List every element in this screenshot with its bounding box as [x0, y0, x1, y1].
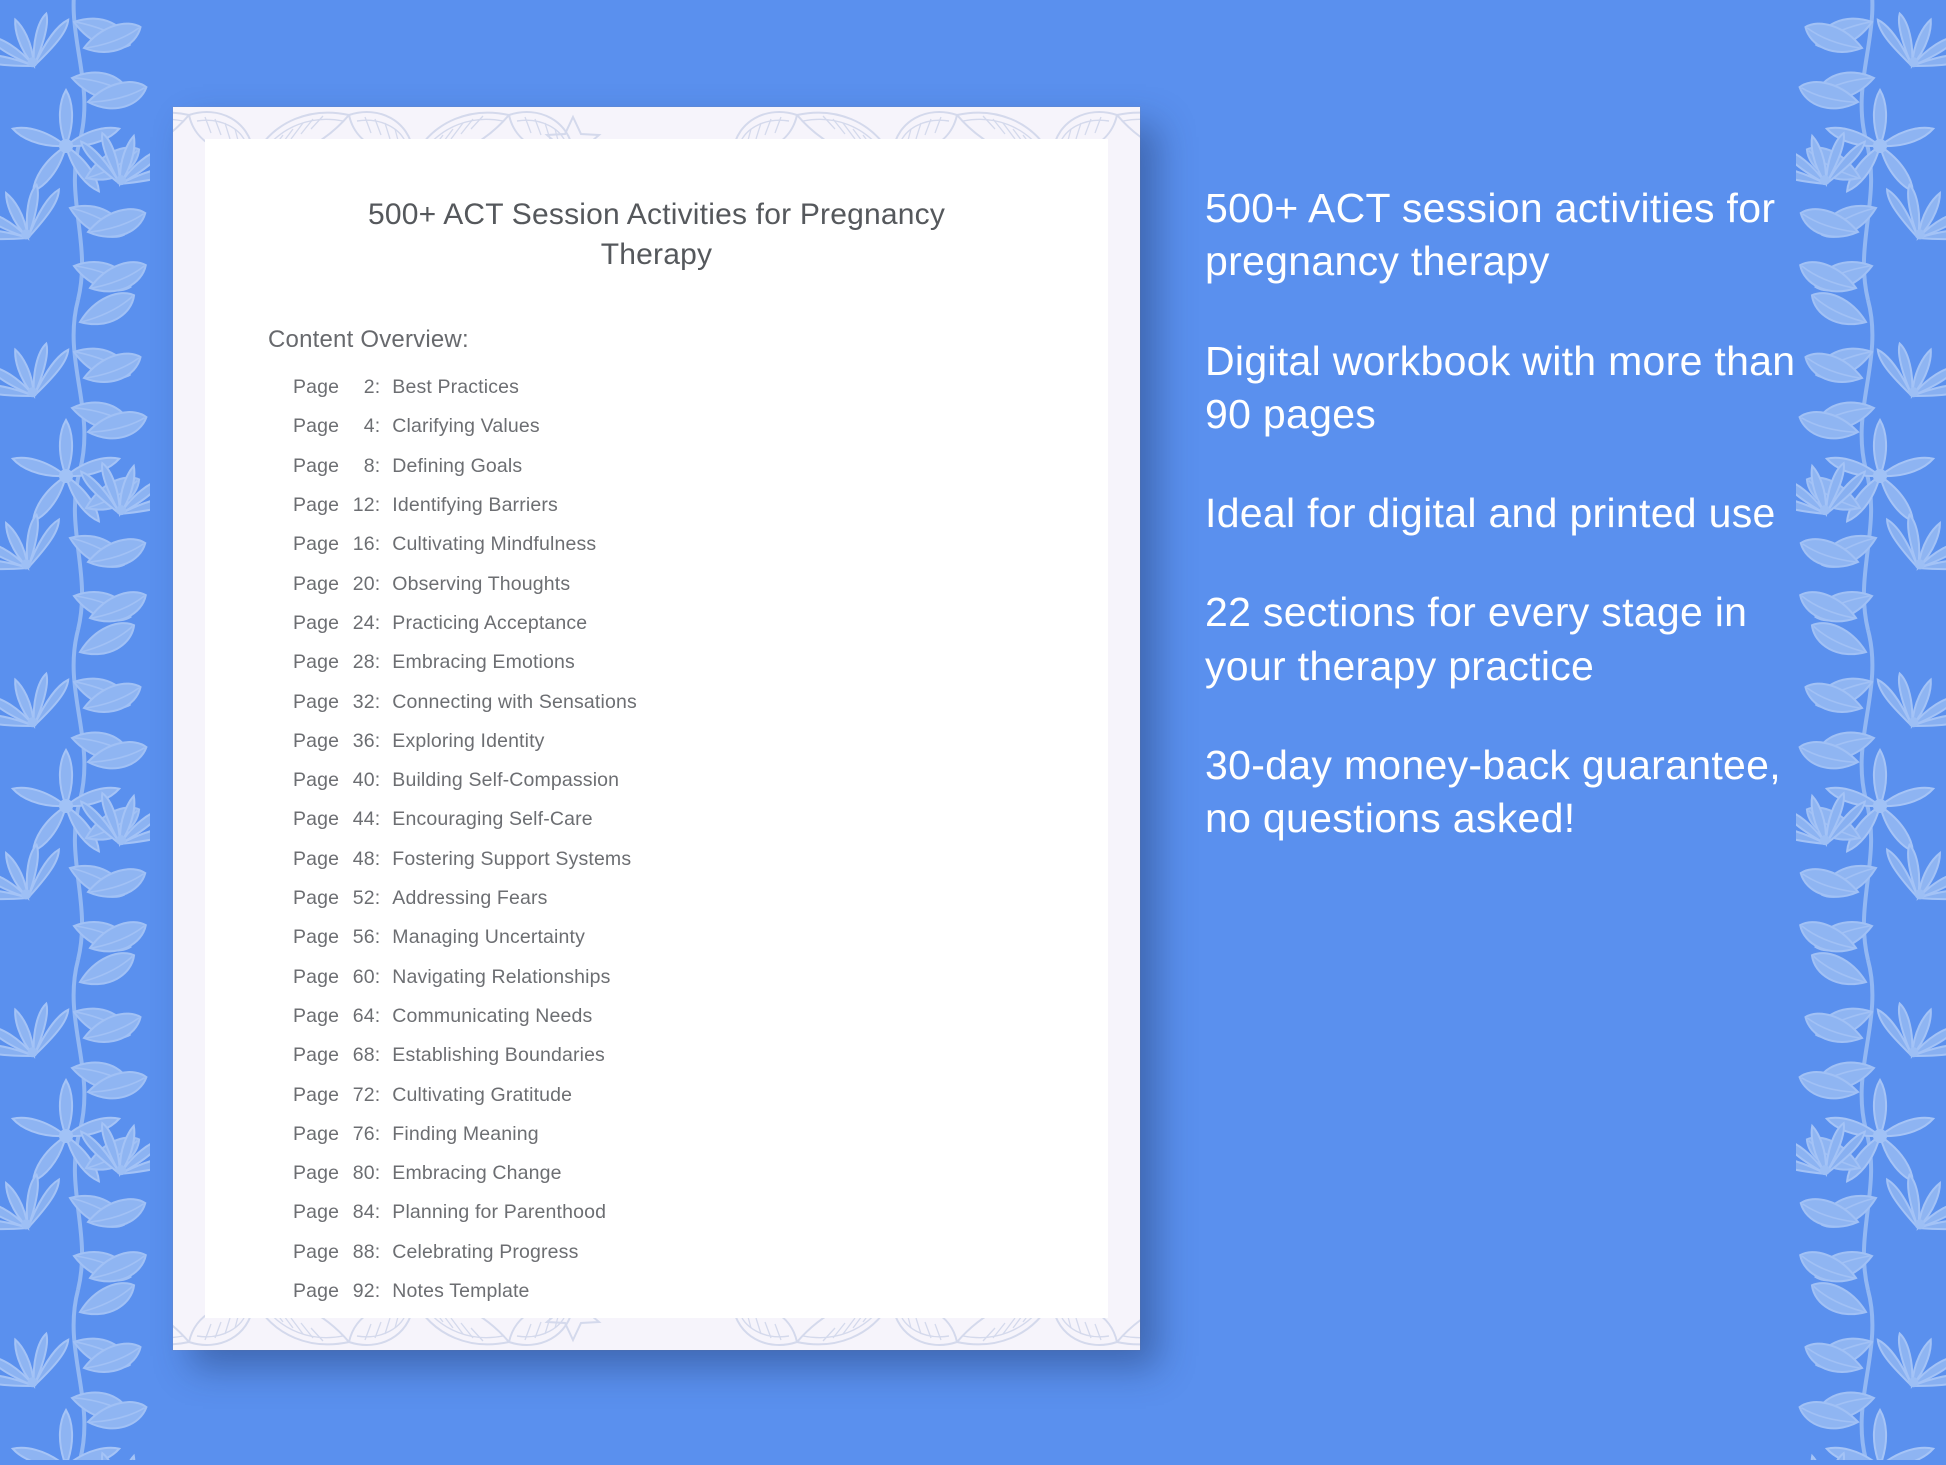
toc-colon: : — [375, 1044, 381, 1067]
toc-section-title: Managing Uncertainty — [392, 926, 585, 949]
toc-colon: : — [375, 887, 381, 910]
toc-section-title: Encouraging Self-Care — [392, 808, 592, 831]
toc-row: Page 24:Practicing Acceptance — [293, 612, 1108, 651]
toc-page-word: Page — [293, 1241, 345, 1264]
toc-colon: : — [375, 494, 381, 517]
toc-section-title: Finding Meaning — [392, 1123, 538, 1146]
toc-page-word: Page — [293, 1162, 345, 1185]
toc-page-word: Page — [293, 1005, 345, 1028]
toc-page-number: 40 — [345, 769, 375, 792]
toc-section-title: Embracing Emotions — [392, 651, 575, 674]
toc-colon: : — [375, 1005, 381, 1028]
toc-page-number: 64 — [345, 1005, 375, 1028]
toc-row: Page 28:Embracing Emotions — [293, 651, 1108, 690]
floral-vine-border-left — [0, 0, 150, 1460]
toc-page-number: 32 — [345, 691, 375, 714]
toc-section-title: Addressing Fears — [392, 887, 547, 910]
toc-row: Page 2:Best Practices — [293, 376, 1108, 415]
toc-row: Page 88:Celebrating Progress — [293, 1241, 1108, 1280]
toc-page-word: Page — [293, 966, 345, 989]
toc-page-number: 20 — [345, 573, 375, 596]
toc-page-word: Page — [293, 769, 345, 792]
toc-page-word: Page — [293, 1084, 345, 1107]
toc-row: Page 4:Clarifying Values — [293, 415, 1108, 454]
toc-page-number: 68 — [345, 1044, 375, 1067]
toc-row: Page 60:Navigating Relationships — [293, 966, 1108, 1005]
toc-colon: : — [375, 848, 381, 871]
toc-page-number: 24 — [345, 612, 375, 635]
toc-section-title: Fostering Support Systems — [392, 848, 631, 871]
toc-section-title: Embracing Change — [392, 1162, 561, 1185]
document-page: 500+ ACT Session Activities for Pregnanc… — [205, 139, 1108, 1318]
toc-row: Page 64:Communicating Needs — [293, 1005, 1108, 1044]
toc-row: Page 84:Planning for Parenthood — [293, 1201, 1108, 1240]
toc-colon: : — [375, 455, 381, 478]
feature-item: 22 sections for every stage in your ther… — [1205, 586, 1825, 693]
toc-section-title: Exploring Identity — [392, 730, 544, 753]
toc-row: Page 76:Finding Meaning — [293, 1123, 1108, 1162]
toc-colon: : — [375, 1241, 381, 1264]
toc-row: Page 72:Cultivating Gratitude — [293, 1084, 1108, 1123]
toc-page-number: 92 — [345, 1280, 375, 1303]
toc-colon: : — [375, 1201, 381, 1224]
toc-page-number: 2 — [345, 376, 375, 399]
toc-page-number: 56 — [345, 926, 375, 949]
toc-section-title: Cultivating Mindfulness — [392, 533, 596, 556]
toc-colon: : — [375, 730, 381, 753]
page-title: 500+ ACT Session Activities for Pregnanc… — [205, 139, 1108, 274]
toc-page-number: 72 — [345, 1084, 375, 1107]
toc-row: Page 40:Building Self-Compassion — [293, 769, 1108, 808]
toc-row: Page 92:Notes Template — [293, 1280, 1108, 1318]
toc-colon: : — [375, 651, 381, 674]
toc-row: Page 8:Defining Goals — [293, 455, 1108, 494]
toc-section-title: Building Self-Compassion — [392, 769, 619, 792]
toc-section-title: Defining Goals — [392, 455, 522, 478]
toc-page-number: 52 — [345, 887, 375, 910]
toc-row: Page 32:Connecting with Sensations — [293, 691, 1108, 730]
toc-section-title: Notes Template — [392, 1280, 529, 1303]
toc-section-title: Connecting with Sensations — [392, 691, 637, 714]
toc-page-number: 48 — [345, 848, 375, 871]
toc-colon: : — [375, 1280, 381, 1303]
toc-row: Page 12:Identifying Barriers — [293, 494, 1108, 533]
toc-page-word: Page — [293, 887, 345, 910]
toc-row: Page 36:Exploring Identity — [293, 730, 1108, 769]
toc-section-title: Practicing Acceptance — [392, 612, 587, 635]
toc-colon: : — [375, 1084, 381, 1107]
feature-item: 500+ ACT session activities for pregnanc… — [1205, 182, 1825, 289]
toc-page-word: Page — [293, 691, 345, 714]
card-surface: 500+ ACT Session Activities for Pregnanc… — [173, 107, 1140, 1350]
feature-item: Ideal for digital and printed use — [1205, 487, 1825, 540]
toc-colon: : — [375, 1162, 381, 1185]
toc-colon: : — [375, 533, 381, 556]
toc-page-number: 36 — [345, 730, 375, 753]
toc-colon: : — [375, 415, 381, 438]
toc-section-title: Cultivating Gratitude — [392, 1084, 572, 1107]
toc-row: Page 20:Observing Thoughts — [293, 573, 1108, 612]
toc-section-title: Best Practices — [392, 376, 519, 399]
toc-page-word: Page — [293, 808, 345, 831]
toc-row: Page 68:Establishing Boundaries — [293, 1044, 1108, 1083]
toc-page-word: Page — [293, 533, 345, 556]
content-overview-heading: Content Overview: — [205, 274, 1108, 354]
toc-page-word: Page — [293, 651, 345, 674]
toc-section-title: Planning for Parenthood — [392, 1201, 606, 1224]
toc-section-title: Clarifying Values — [392, 415, 539, 438]
toc-page-number: 16 — [345, 533, 375, 556]
toc-section-title: Observing Thoughts — [392, 573, 570, 596]
toc-page-number: 4 — [345, 415, 375, 438]
toc-colon: : — [375, 691, 381, 714]
toc-colon: : — [375, 966, 381, 989]
toc-row: Page 48:Fostering Support Systems — [293, 848, 1108, 887]
toc-section-title: Celebrating Progress — [392, 1241, 578, 1264]
toc-page-word: Page — [293, 573, 345, 596]
toc-page-word: Page — [293, 612, 345, 635]
toc-page-number: 12 — [345, 494, 375, 517]
toc-page-number: 84 — [345, 1201, 375, 1224]
toc-page-number: 88 — [345, 1241, 375, 1264]
toc-section-title: Identifying Barriers — [392, 494, 558, 517]
toc-page-number: 28 — [345, 651, 375, 674]
toc-page-word: Page — [293, 376, 345, 399]
workbook-preview-card: 500+ ACT Session Activities for Pregnanc… — [173, 107, 1140, 1350]
toc-page-word: Page — [293, 1201, 345, 1224]
toc-page-word: Page — [293, 1123, 345, 1146]
toc-page-number: 8 — [345, 455, 375, 478]
toc-colon: : — [375, 769, 381, 792]
toc-page-word: Page — [293, 730, 345, 753]
feature-list: 500+ ACT session activities for pregnanc… — [1205, 182, 1825, 846]
feature-item: Digital workbook with more than 90 pages — [1205, 335, 1825, 442]
toc-page-word: Page — [293, 848, 345, 871]
toc-section-title: Communicating Needs — [392, 1005, 592, 1028]
toc-row: Page 80:Embracing Change — [293, 1162, 1108, 1201]
toc-section-title: Navigating Relationships — [392, 966, 610, 989]
toc-page-word: Page — [293, 1044, 345, 1067]
toc-page-number: 60 — [345, 966, 375, 989]
toc-row: Page 16:Cultivating Mindfulness — [293, 533, 1108, 572]
toc-page-word: Page — [293, 926, 345, 949]
toc-page-word: Page — [293, 455, 345, 478]
toc-colon: : — [375, 808, 381, 831]
feature-item: 30-day money-back guarantee, no question… — [1205, 739, 1825, 846]
toc-page-number: 80 — [345, 1162, 375, 1185]
toc-colon: : — [375, 376, 381, 399]
toc-row: Page 44:Encouraging Self-Care — [293, 808, 1108, 847]
toc-page-word: Page — [293, 1280, 345, 1303]
toc-colon: : — [375, 612, 381, 635]
toc-section-title: Establishing Boundaries — [392, 1044, 605, 1067]
toc-page-number: 44 — [345, 808, 375, 831]
table-of-contents: Page 2:Best PracticesPage 4:Clarifying V… — [205, 354, 1108, 1318]
toc-page-number: 76 — [345, 1123, 375, 1146]
toc-page-word: Page — [293, 415, 345, 438]
toc-row: Page 52:Addressing Fears — [293, 887, 1108, 926]
toc-page-word: Page — [293, 494, 345, 517]
toc-row: Page 56:Managing Uncertainty — [293, 926, 1108, 965]
toc-colon: : — [375, 573, 381, 596]
toc-colon: : — [375, 926, 381, 949]
toc-colon: : — [375, 1123, 381, 1146]
